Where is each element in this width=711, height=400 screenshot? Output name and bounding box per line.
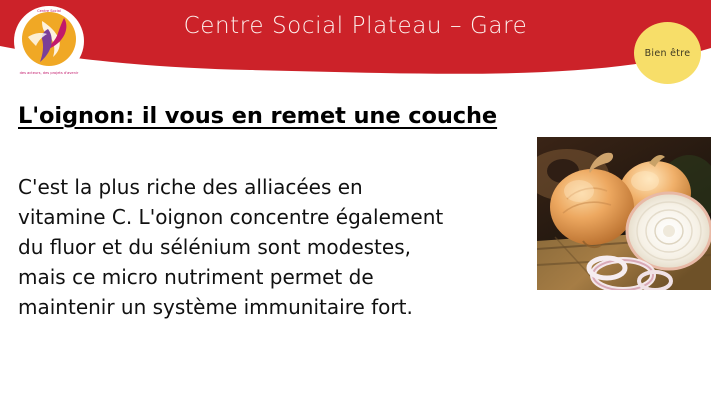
content-body: C'est la plus riche des alliacées en vit… xyxy=(18,172,518,322)
content-heading: L'oignon: il vous en remet une couche xyxy=(18,103,497,129)
slide: Centre Social Plateau – Gare Centre Soci… xyxy=(0,0,711,400)
body-line: C'est la plus riche des alliacées en xyxy=(18,172,518,202)
body-line: du fluor et du sélénium sont modestes, xyxy=(18,232,518,262)
bird-logo-icon: Centre Social des acteurs, des projets d… xyxy=(12,4,86,78)
body-line: maintenir un système immunitaire fort. xyxy=(18,292,518,322)
body-line: mais ce micro nutriment permet de xyxy=(18,262,518,292)
svg-text:Centre Social: Centre Social xyxy=(37,9,61,13)
body-line: vitamine C. L'oignon concentre également xyxy=(18,202,518,232)
badge-label: Bien être xyxy=(645,48,691,59)
onions-photo xyxy=(537,137,711,290)
svg-text:des acteurs, des projets d'ave: des acteurs, des projets d'avenir xyxy=(20,71,79,75)
page-title: Centre Social Plateau – Gare xyxy=(0,13,711,39)
status-badge-bien-etre: Bien être xyxy=(634,22,701,84)
